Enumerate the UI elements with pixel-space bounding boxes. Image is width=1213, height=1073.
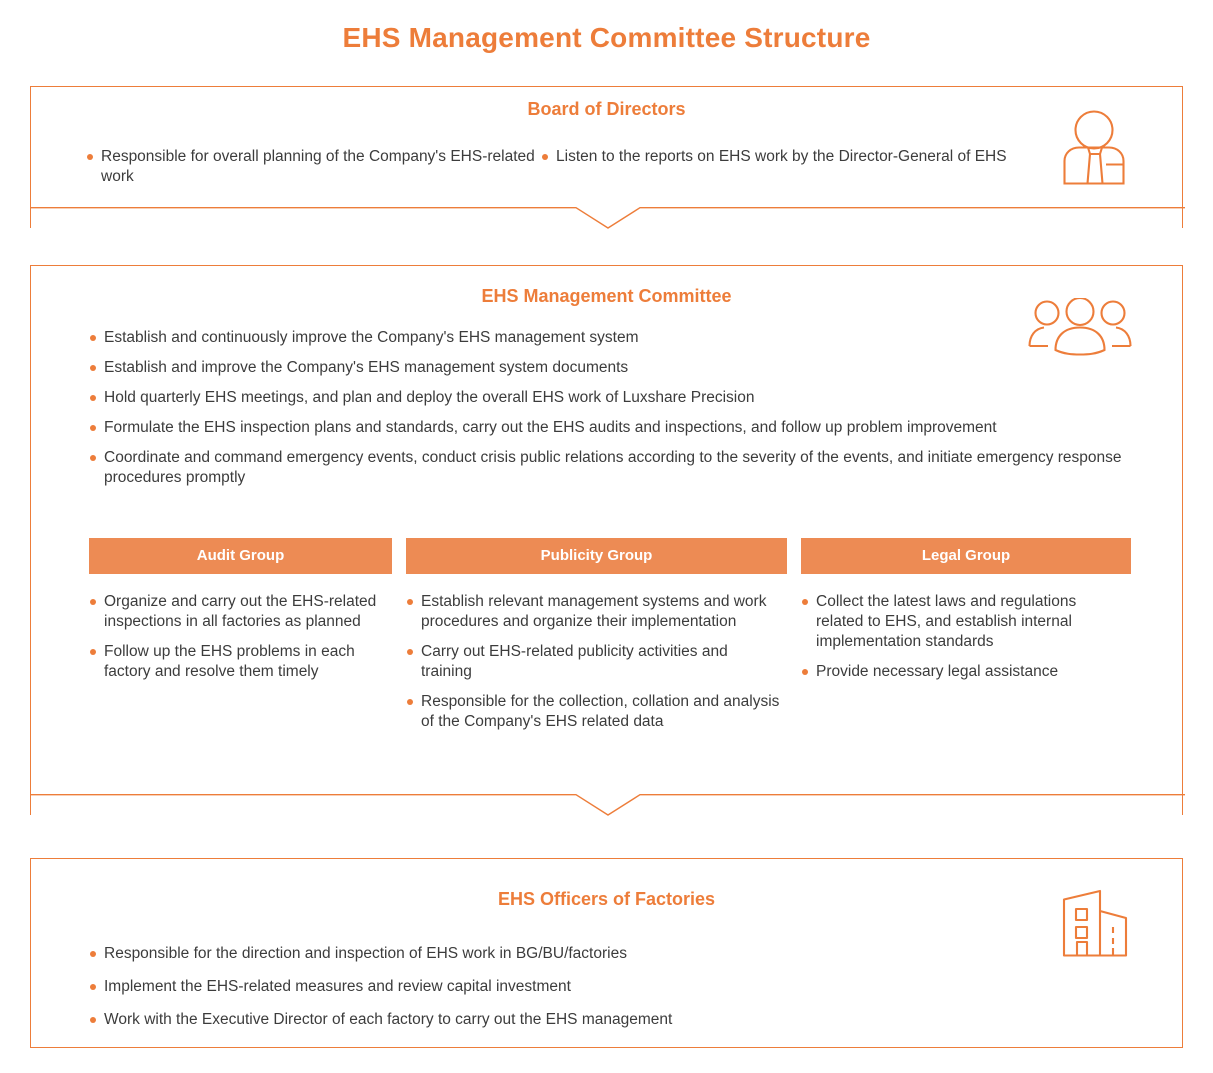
committee-subgroups: Audit Group Organize and carry out the E…	[89, 538, 1131, 732]
group-column-legal: Legal Group Collect the latest laws and …	[801, 538, 1131, 732]
board-of-directors-card: Board of Directors Responsible for overa…	[30, 86, 1183, 228]
list-item: Responsible for the collection, collatio…	[406, 692, 781, 732]
ehs-officers-of-factories-card: EHS Officers of Factories Responsible fo…	[30, 858, 1183, 1048]
group-header-publicity: Publicity Group	[406, 538, 787, 574]
group-body-publicity: Establish relevant management systems an…	[406, 574, 787, 732]
group-body-audit: Organize and carry out the EHS-related i…	[89, 574, 392, 682]
ehs-committee-structure-diagram: EHS Management Committee Structure Board…	[0, 0, 1213, 1073]
list-item: Hold quarterly EHS meetings, and plan an…	[89, 388, 1149, 408]
buildings-icon	[1060, 887, 1130, 959]
list-item: Formulate the EHS inspection plans and s…	[89, 418, 1149, 438]
group-column-audit: Audit Group Organize and carry out the E…	[89, 538, 392, 732]
board-bullets-left: Responsible for overall planning of the …	[86, 147, 541, 187]
board-bullet-columns: Responsible for overall planning of the …	[86, 147, 1046, 187]
connector-notch-board	[30, 207, 1186, 229]
list-item: Provide necessary legal assistance	[801, 662, 1125, 682]
list-item: Establish and continuously improve the C…	[89, 328, 1149, 348]
list-item: Follow up the EHS problems in each facto…	[89, 642, 386, 682]
ehs-management-committee-card: EHS Management Committee Establish and c…	[30, 265, 1183, 815]
committee-bullets: Establish and continuously improve the C…	[89, 328, 1149, 488]
list-item: Listen to the reports on EHS work by the…	[541, 147, 1011, 167]
list-item: Organize and carry out the EHS-related i…	[89, 592, 386, 632]
board-bullets-right: Listen to the reports on EHS work by the…	[541, 147, 1011, 167]
legal-group-bullets: Collect the latest laws and regulations …	[801, 592, 1125, 682]
officers-bullets: Responsible for the direction and inspec…	[89, 944, 1009, 1030]
group-body-legal: Collect the latest laws and regulations …	[801, 574, 1131, 682]
person-tie-icon	[1058, 109, 1130, 187]
list-item: Work with the Executive Director of each…	[89, 1010, 1009, 1030]
list-item: Responsible for the direction and inspec…	[89, 944, 1009, 964]
group-column-publicity: Publicity Group Establish relevant manag…	[406, 538, 787, 732]
group-header-legal: Legal Group	[801, 538, 1131, 574]
board-column-left: Responsible for overall planning of the …	[86, 147, 541, 187]
list-item: Collect the latest laws and regulations …	[801, 592, 1125, 652]
list-item: Carry out EHS-related publicity activiti…	[406, 642, 781, 682]
group-header-audit: Audit Group	[89, 538, 392, 574]
list-item: Establish relevant management systems an…	[406, 592, 781, 632]
publicity-group-bullets: Establish relevant management systems an…	[406, 592, 781, 732]
list-item: Responsible for overall planning of the …	[86, 147, 541, 187]
committee-heading: EHS Management Committee	[31, 286, 1182, 307]
board-column-right: Listen to the reports on EHS work by the…	[541, 147, 1011, 187]
page-title: EHS Management Committee Structure	[0, 22, 1213, 54]
audit-group-bullets: Organize and carry out the EHS-related i…	[89, 592, 386, 682]
list-item: Implement the EHS-related measures and r…	[89, 977, 1009, 997]
list-item: Coordinate and command emergency events,…	[89, 448, 1149, 488]
connector-notch-committee	[30, 794, 1186, 816]
list-item: Establish and improve the Company's EHS …	[89, 358, 1149, 378]
officers-heading: EHS Officers of Factories	[31, 889, 1182, 910]
board-heading: Board of Directors	[31, 99, 1182, 120]
